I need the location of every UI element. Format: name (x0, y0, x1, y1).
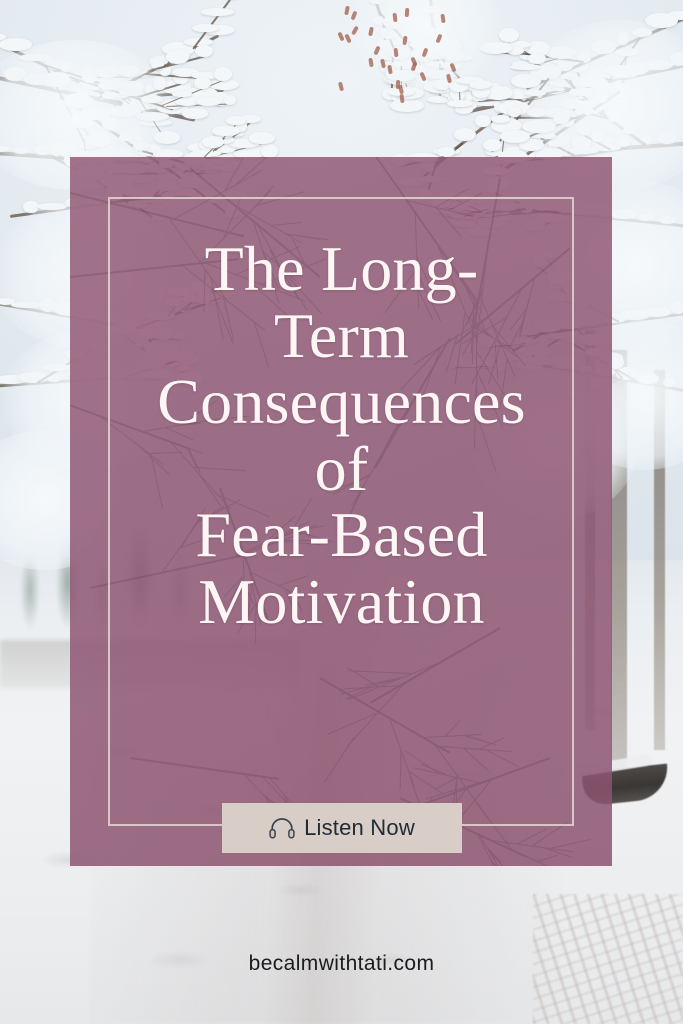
panel-texture-twig (323, 738, 354, 784)
snow-clump (182, 108, 207, 119)
snow-clump (214, 67, 233, 81)
panel-texture-twig (435, 777, 457, 789)
title-line-1: The Long- (34, 236, 649, 303)
panel-texture-twig (130, 757, 279, 780)
title-line-4: of (34, 436, 649, 503)
snow-clump (195, 45, 213, 57)
title-line-5: Fear-Based (34, 502, 649, 569)
title-line-3: Consequences (34, 369, 649, 436)
snow-clump (499, 28, 519, 42)
snow-clump (249, 132, 275, 143)
snow-clump (192, 24, 218, 32)
snow-clump (508, 106, 520, 117)
panel-texture-twig (327, 714, 376, 736)
panel-texture-twig (549, 839, 590, 849)
panel-texture-twig (532, 822, 567, 846)
snow-clump (483, 139, 502, 152)
panel-texture-twig (248, 186, 273, 215)
panel-texture-twig (435, 189, 468, 208)
listen-now-button[interactable]: Listen Now (222, 803, 462, 853)
panel-texture-twig (418, 757, 550, 807)
snow-clump (491, 115, 510, 123)
panel-texture-twig (487, 750, 519, 767)
title-line-2: Term (34, 303, 649, 370)
snow-clump (196, 97, 221, 105)
seed-pod (405, 8, 410, 17)
panel-texture-twig (257, 191, 304, 206)
pin-title: The Long- Term Consequences of Fear-Base… (0, 236, 683, 635)
snow-clump (201, 8, 234, 15)
listen-now-label: Listen Now (304, 815, 415, 841)
snow-clump (454, 128, 476, 141)
seed-pod (368, 58, 373, 68)
seed-pod (392, 13, 397, 22)
snow-clump (475, 115, 490, 127)
panel-texture-twig (518, 829, 547, 845)
snow-clump (224, 95, 236, 104)
website-footer: becalmwithtati.com (0, 952, 683, 976)
snow-clump (166, 50, 190, 64)
panel-texture-twig (271, 222, 302, 226)
headphones-icon (269, 817, 295, 839)
snow-clump (194, 77, 211, 89)
panel-texture-twig (462, 208, 488, 214)
panel-texture-twig (538, 855, 558, 862)
seed-pod (393, 48, 398, 57)
seed-pod (344, 6, 350, 16)
snow-clump (226, 116, 246, 125)
seed-pod (402, 35, 407, 44)
title-line-6: Motivation (34, 569, 649, 636)
snow-clump (469, 80, 492, 89)
snow-clump (437, 147, 455, 158)
seed-pod (399, 94, 404, 103)
seed-pod (440, 14, 445, 24)
panel-texture-twig (464, 748, 490, 772)
panel-texture-twig (440, 746, 513, 753)
panel-texture-twig (447, 192, 483, 211)
panel-texture-twig (400, 750, 402, 789)
panel-texture-twig (465, 735, 492, 744)
seed-pod (338, 82, 344, 92)
snow-clump (212, 126, 240, 135)
snow-clump (390, 99, 423, 112)
panel-texture-twig (370, 627, 501, 704)
pinterest-pin-graphic: The Long- Term Consequences of Fear-Base… (0, 0, 683, 1024)
panel-texture-twig (320, 677, 451, 754)
